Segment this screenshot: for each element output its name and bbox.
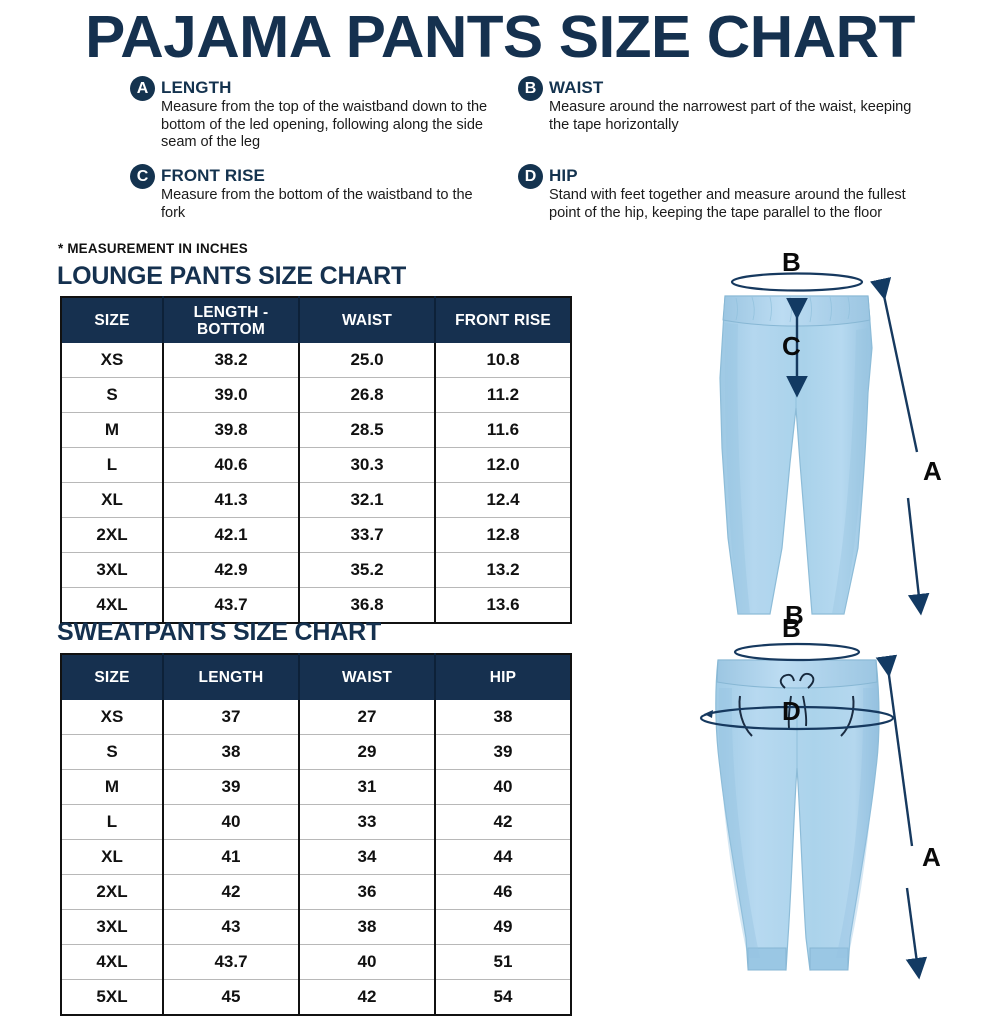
cell-hip: 42 <box>435 805 571 840</box>
cell-hip: 40 <box>435 770 571 805</box>
marker-a-bottom: A <box>922 842 941 873</box>
cell-waist: 36 <box>299 875 435 910</box>
legend-item-hip: D HIP Stand with feet together and measu… <box>518 164 918 222</box>
cell-size: M <box>61 770 163 805</box>
column-header-front-rise: FRONT RISE <box>435 297 571 343</box>
table-row: XS 37 27 38 <box>61 700 571 735</box>
cell-size: L <box>61 805 163 840</box>
table-row: 3XL 43 38 49 <box>61 910 571 945</box>
sweatpants-length-arrow-lower-a <box>907 888 918 970</box>
table-row: L 40.6 30.3 12.0 <box>61 448 571 483</box>
cell-hip: 46 <box>435 875 571 910</box>
table-row: S 38 29 39 <box>61 735 571 770</box>
cell-front-rise: 13.6 <box>435 588 571 624</box>
legend-item-front-rise: C FRONT RISE Measure from the bottom of … <box>130 164 490 222</box>
cell-length: 40.6 <box>163 448 299 483</box>
sweatpants-size-table: SIZE LENGTH WAIST HIP XS 37 27 38 S 38 2… <box>60 653 572 1016</box>
cell-hip: 54 <box>435 980 571 1016</box>
column-header-length-bottom: LENGTH -BOTTOM <box>163 297 299 343</box>
sweatpants-waist-ellipse-b <box>735 644 859 660</box>
cell-front-rise: 13.2 <box>435 553 571 588</box>
cell-waist: 30.3 <box>299 448 435 483</box>
cell-size: XL <box>61 840 163 875</box>
marker-d-bottom: D <box>782 696 801 727</box>
illustrations-panel: B C A B B D A <box>600 248 1000 1000</box>
cell-size: L <box>61 448 163 483</box>
length-arrow-upper-a <box>883 291 917 452</box>
table-row: 4XL 43.7 40 51 <box>61 945 571 980</box>
measurement-note: * MEASUREMENT IN INCHES <box>58 241 248 256</box>
cell-front-rise: 12.4 <box>435 483 571 518</box>
column-header-length: LENGTH <box>163 654 299 700</box>
table-row: M 39.8 28.5 11.6 <box>61 413 571 448</box>
badge-b-icon: B <box>518 76 543 101</box>
marker-c-top: C <box>782 331 801 362</box>
table-row: L 40 33 42 <box>61 805 571 840</box>
lounge-pants-size-table: SIZE LENGTH -BOTTOM WAIST FRONT RISE XS … <box>60 296 572 624</box>
lounge-pants-illustration <box>720 274 920 615</box>
table-row: M 39 31 40 <box>61 770 571 805</box>
column-header-waist: WAIST <box>299 297 435 343</box>
cell-length: 42.1 <box>163 518 299 553</box>
cell-size: XS <box>61 343 163 378</box>
column-header-size: SIZE <box>61 654 163 700</box>
cell-length: 40 <box>163 805 299 840</box>
cell-waist: 27 <box>299 700 435 735</box>
badge-a-icon: A <box>130 76 155 101</box>
cell-hip: 39 <box>435 735 571 770</box>
cell-length: 39.0 <box>163 378 299 413</box>
hip-ellipse-arrowhead <box>704 710 713 718</box>
badge-d-icon: D <box>518 164 543 189</box>
badge-c-icon: C <box>130 164 155 189</box>
column-header-waist: WAIST <box>299 654 435 700</box>
measurement-legend: A LENGTH Measure from the top of the wai… <box>0 76 1000 241</box>
cell-length: 38 <box>163 735 299 770</box>
cell-front-rise: 11.2 <box>435 378 571 413</box>
marker-b-top: B <box>782 247 801 278</box>
sweatpants-illustration <box>701 644 918 970</box>
table-row: 2XL 42 36 46 <box>61 875 571 910</box>
cell-waist: 28.5 <box>299 413 435 448</box>
legend-item-length: A LENGTH Measure from the top of the wai… <box>130 76 490 152</box>
table-row: XL 41 34 44 <box>61 840 571 875</box>
cell-size: 5XL <box>61 980 163 1016</box>
cell-size: XL <box>61 483 163 518</box>
table-row: 5XL 45 42 54 <box>61 980 571 1016</box>
lounge-table-body: XS 38.2 25.0 10.8 S 39.0 26.8 11.2 M 39.… <box>61 343 571 623</box>
cell-length: 43 <box>163 910 299 945</box>
cell-size: 3XL <box>61 910 163 945</box>
legend-heading-waist: WAIST <box>549 76 918 98</box>
cell-length: 38.2 <box>163 343 299 378</box>
cell-size: XS <box>61 700 163 735</box>
cell-length: 41.3 <box>163 483 299 518</box>
cell-waist: 32.1 <box>299 483 435 518</box>
sweatpants-table-title: SWEATPANTS SIZE CHART <box>57 618 381 647</box>
legend-description-front-rise: Measure from the bottom of the waistband… <box>161 186 490 222</box>
table-header-row: SIZE LENGTH -BOTTOM WAIST FRONT RISE <box>61 297 571 343</box>
legend-description-length: Measure from the top of the waistband do… <box>161 98 490 152</box>
marker-a-top: A <box>923 456 942 487</box>
cell-waist: 31 <box>299 770 435 805</box>
cell-hip: 38 <box>435 700 571 735</box>
lounge-table-title: LOUNGE PANTS SIZE CHART <box>57 262 406 291</box>
cell-front-rise: 12.8 <box>435 518 571 553</box>
cell-length: 42.9 <box>163 553 299 588</box>
legend-description-waist: Measure around the narrowest part of the… <box>549 98 918 134</box>
cell-hip: 49 <box>435 910 571 945</box>
column-header-hip: HIP <box>435 654 571 700</box>
cell-length: 42 <box>163 875 299 910</box>
cell-waist: 40 <box>299 945 435 980</box>
table-row: XS 38.2 25.0 10.8 <box>61 343 571 378</box>
cell-hip: 51 <box>435 945 571 980</box>
sweatpants-length-arrow-upper-a <box>888 668 912 846</box>
cell-waist: 33 <box>299 805 435 840</box>
cell-size: 2XL <box>61 518 163 553</box>
cell-waist: 29 <box>299 735 435 770</box>
table-header-row: SIZE LENGTH WAIST HIP <box>61 654 571 700</box>
cell-length: 43.7 <box>163 945 299 980</box>
cell-front-rise: 12.0 <box>435 448 571 483</box>
cell-length: 39 <box>163 770 299 805</box>
cell-size: 2XL <box>61 875 163 910</box>
cell-waist: 42 <box>299 980 435 1016</box>
legend-description-hip: Stand with feet together and measure aro… <box>549 186 918 222</box>
cell-length: 39.8 <box>163 413 299 448</box>
cell-waist: 34 <box>299 840 435 875</box>
cell-length: 37 <box>163 700 299 735</box>
cell-waist: 35.2 <box>299 553 435 588</box>
cell-length: 41 <box>163 840 299 875</box>
table-row: S 39.0 26.8 11.2 <box>61 378 571 413</box>
cell-waist: 38 <box>299 910 435 945</box>
cell-size: 3XL <box>61 553 163 588</box>
cell-length: 45 <box>163 980 299 1016</box>
table-row: 3XL 42.9 35.2 13.2 <box>61 553 571 588</box>
sweatpants-waistband <box>717 660 877 688</box>
cell-front-rise: 11.6 <box>435 413 571 448</box>
cell-size: 4XL <box>61 945 163 980</box>
cell-size: S <box>61 735 163 770</box>
cell-hip: 44 <box>435 840 571 875</box>
sweatpants-table-body: XS 37 27 38 S 38 29 39 M 39 31 40 L 40 3… <box>61 700 571 1015</box>
cell-front-rise: 10.8 <box>435 343 571 378</box>
table-row: 2XL 42.1 33.7 12.8 <box>61 518 571 553</box>
legend-heading-hip: HIP <box>549 164 918 186</box>
table-row: XL 41.3 32.1 12.4 <box>61 483 571 518</box>
legend-heading-length: LENGTH <box>161 76 490 98</box>
column-header-size: SIZE <box>61 297 163 343</box>
cell-waist: 33.7 <box>299 518 435 553</box>
marker-b-bottom: B <box>782 613 801 644</box>
cell-size: S <box>61 378 163 413</box>
cell-waist: 25.0 <box>299 343 435 378</box>
legend-heading-front-rise: FRONT RISE <box>161 164 490 186</box>
cell-waist: 26.8 <box>299 378 435 413</box>
cell-size: M <box>61 413 163 448</box>
page-title: PAJAMA PANTS SIZE CHART <box>0 4 1000 70</box>
length-arrow-lower-a <box>908 498 920 606</box>
legend-item-waist: B WAIST Measure around the narrowest par… <box>518 76 918 134</box>
